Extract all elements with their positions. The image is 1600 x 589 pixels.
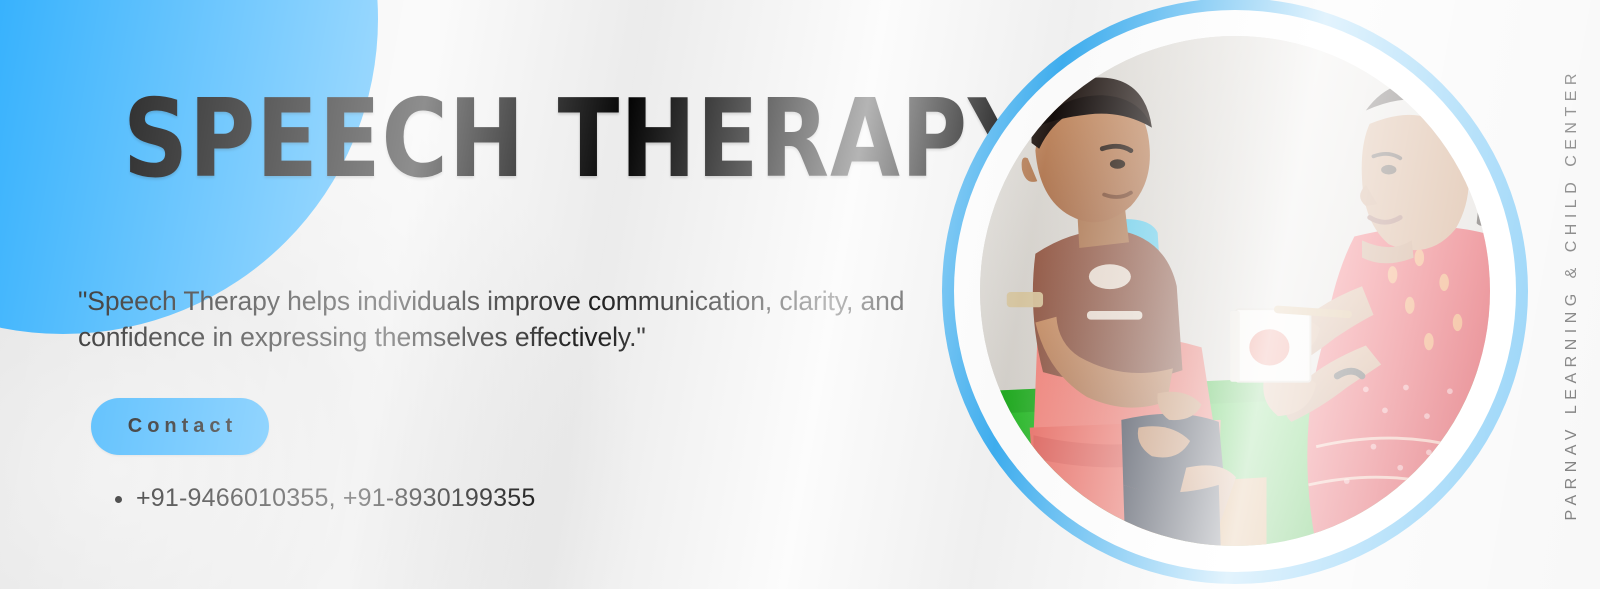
phone-number-list: +91-9466010355, +91-8930199355 [108, 484, 535, 513]
tagline-quote: "Speech Therapy helps individuals improv… [78, 284, 928, 356]
contact-button[interactable]: Contact [91, 398, 269, 455]
list-item[interactable]: +91-9466010355, +91-8930199355 [136, 484, 535, 513]
photo-ring-border [942, 0, 1528, 584]
therapy-session-illustration [980, 36, 1490, 546]
page-title: SPEECH THERAPY [123, 86, 1034, 194]
photo-white-gap [954, 10, 1516, 572]
brand-vertical-text: PARNAV LEARNING & CHILD CENTER [1552, 0, 1592, 589]
therapy-session-photo [980, 36, 1490, 546]
brand-name-label: PARNAV LEARNING & CHILD CENTER [1563, 68, 1581, 520]
speech-therapy-banner: SPEECH THERAPY "Speech Therapy helps ind… [0, 0, 1600, 589]
